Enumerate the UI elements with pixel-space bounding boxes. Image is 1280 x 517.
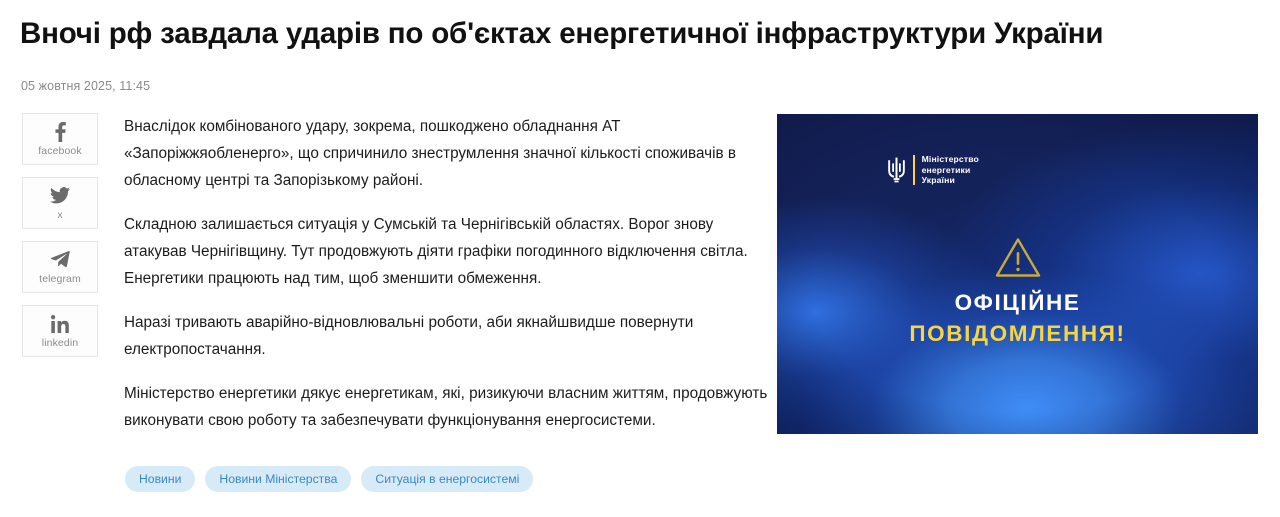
figure-center-content: ОФІЦІЙНЕ ПОВІДОМЛЕННЯ! — [777, 236, 1258, 347]
article-paragraph: Міністерство енергетики дякує енергетика… — [124, 380, 769, 434]
article-page: Вночі рф завдала ударів по об'єктах енер… — [0, 0, 1280, 517]
twitter-icon — [50, 186, 70, 206]
share-button-x[interactable]: x — [22, 177, 98, 229]
ministry-logo: Міністерство енергетики України — [887, 154, 979, 186]
article-timestamp: 05 жовтня 2025, 11:45 — [21, 78, 150, 94]
share-rail: facebook x telegram — [22, 113, 98, 369]
tag-chip[interactable]: Новини — [125, 466, 195, 492]
telegram-icon — [51, 250, 70, 270]
trident-icon — [887, 157, 906, 183]
share-button-facebook[interactable]: facebook — [22, 113, 98, 165]
article-figure: Міністерство енергетики України ОФІЦІЙНЕ… — [777, 114, 1258, 434]
facebook-icon — [55, 122, 66, 142]
article-paragraph: Внаслідок комбінованого удару, зокрема, … — [124, 113, 769, 194]
article-paragraph: Наразі тривають аварійно-відновлювальні … — [124, 309, 769, 363]
tag-chip[interactable]: Новини Міністерства — [205, 466, 351, 492]
ministry-logo-line3: України — [922, 175, 955, 185]
page-title: Вночі рф завдала ударів по об'єктах енер… — [20, 15, 1250, 53]
figure-headline-primary: ОФІЦІЙНЕ — [955, 290, 1081, 316]
article-paragraph: Складною залишається ситуація у Сумській… — [124, 211, 769, 292]
share-label-facebook: facebook — [38, 145, 81, 157]
share-label-telegram: telegram — [39, 273, 81, 285]
warning-triangle-icon — [994, 236, 1042, 290]
tag-list: Новини Новини Міністерства Ситуація в ен… — [125, 466, 533, 492]
tag-chip[interactable]: Ситуація в енергосистемі — [361, 466, 533, 492]
share-button-linkedin[interactable]: linkedin — [22, 305, 98, 357]
share-button-telegram[interactable]: telegram — [22, 241, 98, 293]
ministry-logo-line2: енергетики — [922, 165, 971, 175]
share-label-linkedin: linkedin — [42, 337, 78, 349]
ministry-logo-line1: Міністерство — [922, 154, 979, 164]
share-label-x: x — [57, 209, 62, 221]
ministry-logo-text: Міністерство енергетики України — [922, 154, 979, 186]
article-body: Внаслідок комбінованого удару, зокрема, … — [124, 113, 769, 434]
figure-headline-secondary: ПОВІДОМЛЕННЯ! — [909, 321, 1125, 347]
linkedin-icon — [51, 314, 69, 334]
logo-divider — [913, 155, 915, 185]
